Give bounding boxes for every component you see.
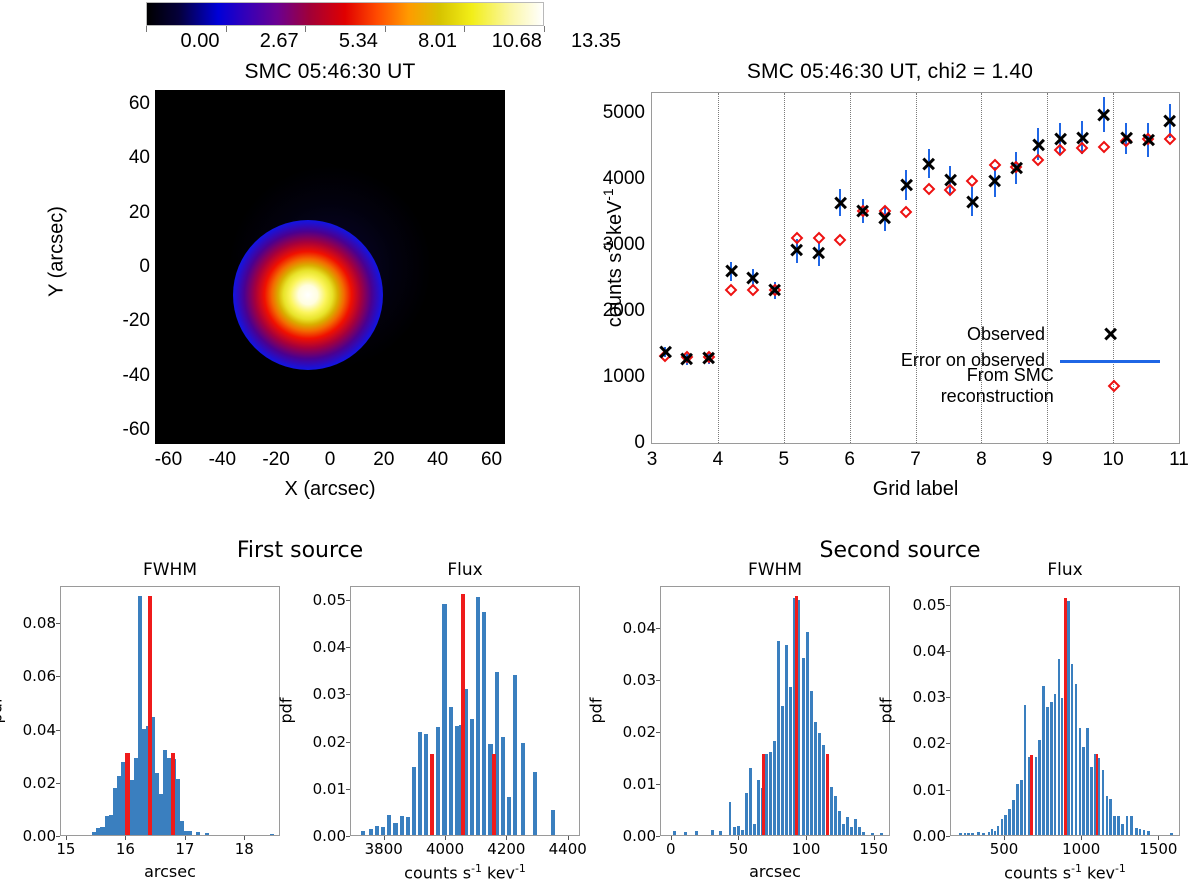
histogram-bar [1016,784,1019,835]
histogram-y-tickmark [946,697,950,698]
histogram-bar [1046,707,1049,835]
histogram-bar [1147,831,1150,835]
histogram-bar [964,833,967,835]
histogram-bar [1143,830,1146,835]
histogram-y-tickmark [656,680,660,681]
histogram-bar [798,600,801,835]
spectrum-observed-marker [921,157,936,172]
histogram-y-tick-label: 0.04 [23,721,56,739]
spectrum-x-tick-label: 6 [844,449,855,471]
histogram-y-tickmark [656,732,660,733]
histogram-bar [375,826,379,835]
histogram-bar [982,833,985,835]
histogram-bar [418,732,422,835]
image-x-tick-label: -20 [262,449,289,471]
histogram-y-tick-label: 0.08 [23,614,56,632]
histogram-bar [1035,757,1038,835]
spectrum-observed-marker [1119,130,1134,145]
histogram-y-tick-label: 0.04 [623,619,656,637]
spectrum-observed-marker [1031,137,1046,152]
histogram-bar [270,834,274,835]
histogram-bar [369,829,373,835]
image-x-tick-label: 60 [481,449,502,471]
image-x-tick-label: -60 [155,449,182,471]
histogram-bar [188,831,192,835]
histogram-y-tick-label: 0.02 [313,733,346,751]
image-x-tick-label: -40 [209,449,236,471]
histogram-bar [442,604,446,835]
histogram-y-ticks-first-fwhm: 0.000.020.040.060.08 [0,586,56,836]
spectrum-observed-marker [1162,114,1177,129]
spectrum-observed-marker [965,194,980,209]
histogram-bar [842,824,845,835]
colorbar-tick-label: 0.00 [181,30,220,53]
histogram-title-second-fwhm: FWHM [660,560,890,580]
histogram-bar [777,641,780,835]
histogram-y-label-second-flux: pdf [877,671,896,751]
histogram-y-tickmark [656,628,660,629]
legend-row-observed: Observed [865,321,1165,347]
histogram-bar [96,828,100,835]
histogram-x-ticks-first-flux: 3800400042004400 [350,840,580,862]
histogram-bar [997,826,1000,835]
histogram-bar [1135,828,1138,835]
spectrum-x-tick-label: 10 [1103,449,1124,471]
histogram-x-tick-label: 50 [729,840,748,858]
spectrum-observed-marker [789,243,804,258]
histogram-plot-second-flux [950,586,1180,836]
histogram-bar [513,675,517,835]
histogram-bar [769,752,772,835]
spectrum-reconstruction-marker [966,175,979,188]
histogram-y-label-second-fwhm: pdf [587,671,606,751]
colorbar-tick-label: 2.67 [260,30,299,53]
histogram-bar [1098,758,1101,835]
histogram-marker-bar [148,596,152,835]
histogram-bar [470,719,474,835]
spectrum-observed-marker [724,264,739,279]
histogram-y-ticks-first-flux: 0.000.010.020.030.040.05 [290,586,346,836]
histogram-bar [862,832,865,835]
histogram-x-ticks-second-flux: 50010001500 [950,840,1180,862]
histogram-marker-bar [171,753,175,835]
histogram-plot-second-fwhm [660,586,890,836]
histogram-bar [741,830,744,835]
histogram-x-tick-label: 1000 [1062,840,1100,858]
spectrum-reconstruction-marker [900,205,913,218]
histogram-bar [854,819,857,835]
source-blob [233,220,383,370]
histogram-bar [436,727,440,835]
histogram-plot-first-flux [350,586,580,836]
histogram-bar [406,817,410,835]
histogram-bar [695,831,698,835]
histogram-y-tickmark [346,836,350,837]
image-panel-title: SMC 05:46:30 UT [155,60,505,84]
histogram-bar [749,768,752,835]
histogram-y-ticks-second-fwhm: 0.000.010.020.030.04 [600,586,656,836]
image-x-tick-label: 20 [373,449,394,471]
histogram-y-tick-label: 0.05 [313,591,346,609]
histogram-marker-bar [430,754,434,835]
histogram-bar [455,726,459,835]
histogram-bar [834,796,837,835]
histogram-bar [753,824,756,835]
histogram-y-tick-label: 0.01 [623,775,656,793]
histogram-title-first-fwhm: FWHM [60,560,280,580]
histogram-bar [673,831,676,835]
legend-row-reconstruction: From SMC reconstruction [865,373,1165,399]
histogram-bar [1075,684,1078,835]
histogram-bar [789,687,792,835]
histogram-bar [745,793,748,835]
histogram-y-label-first-fwhm: pdf [0,671,6,751]
histogram-bar [810,691,813,835]
histogram-bar [424,734,428,835]
histogram-plot-first-fwhm [60,586,280,836]
spectrum-gridline [718,93,719,443]
histogram-y-tickmark [56,783,60,784]
legend-label-reconstruction: From SMC reconstruction [865,365,1064,407]
histogram-bar [806,632,809,835]
histogram-bar [838,811,841,835]
histogram-y-tick-label: 0.04 [913,642,946,660]
histogram-y-tickmark [346,789,350,790]
histogram-x-tick-label: 150 [859,840,888,858]
histogram-bar [482,612,486,835]
image-panel-x-ticks: -60-40-200204060 [155,449,505,475]
spectrum-reconstruction-marker [1098,141,1111,154]
histogram-y-tickmark [656,784,660,785]
histogram-y-tick-label: 0.03 [913,688,946,706]
histogram-bar [977,832,980,835]
histogram-bar [1121,824,1124,835]
legend-symbol-diamond [1064,376,1165,396]
image-y-tick-label: -40 [123,365,150,387]
spectrum-observed-marker [987,174,1002,189]
histogram-y-tickmark [946,790,950,791]
histogram-marker-bar [492,754,496,835]
histogram-bar [822,745,825,835]
spectrum-observed-marker [855,203,870,218]
histogram-bar [196,832,200,835]
histogram-bar [1050,702,1053,835]
spectrum-observed-marker [1053,132,1068,147]
spectrum-y-tick-label: 5000 [603,102,645,124]
histogram-y-tick-label: 0.02 [913,734,946,752]
spectrum-reconstruction-marker [725,283,738,296]
histogram-bar [773,741,776,835]
histogram-bar [719,831,722,835]
histogram-bar [830,787,833,835]
histogram-y-tick-label: 0.03 [623,671,656,689]
colorbar-tick-label: 8.01 [418,30,457,53]
histogram-bar [850,827,853,835]
histogram-bar [818,733,821,835]
histogram-x-tick-label: 0 [666,840,676,858]
histogram-bar [393,823,397,835]
histogram-bar [412,767,416,835]
histogram-marker-bar [795,596,798,835]
histogram-y-tickmark [56,836,60,837]
histogram-bar [361,831,365,835]
spectrum-observed-marker [1141,132,1156,147]
histogram-y-tick-label: 0.00 [623,827,656,845]
legend-label-observed: Observed [967,324,1055,345]
spectrum-observed-marker [745,270,760,285]
histogram-bar [733,827,736,835]
spectrum-observed-marker [1096,108,1111,123]
spectrum-observed-marker [1075,130,1090,145]
histogram-bar [387,815,391,835]
spectrum-legend: Observed Error on observed From SMC reco… [865,321,1165,399]
histogram-bar [814,722,817,835]
histogram-x-ticks-second-fwhm: 050100150 [660,840,890,862]
histogram-y-tickmark [946,605,950,606]
spectrum-observed-marker [1009,161,1024,176]
image-y-tick-label: 60 [129,93,150,115]
histogram-x-tick-label: 100 [792,840,821,858]
histogram-y-tickmark [346,600,350,601]
histogram-y-tick-label: 0.02 [23,774,56,792]
histogram-x-tick-label: 4200 [487,840,525,858]
histogram-bar [1067,601,1070,835]
colorbar-tick-label: 10.68 [492,30,542,53]
histogram-bar [785,645,788,835]
spectrum-x-tick-label: 4 [713,449,724,471]
histogram-bar [971,833,974,835]
image-panel-plot [155,90,505,444]
image-panel-y-label: Y (arcsec) [46,177,69,327]
histogram-bar [1102,770,1105,835]
spectrum-x-tick-label: 8 [976,449,987,471]
histogram-bar [1130,816,1133,835]
histogram-bar [1079,728,1082,835]
histogram-bar [1042,686,1045,835]
histogram-bar [757,780,760,835]
legend-symbol-x [1055,324,1165,344]
histogram-y-tick-label: 0.04 [313,638,346,656]
histogram-x-tick-label: 500 [990,840,1019,858]
histogram-bar [684,832,687,835]
histogram-bar [765,754,768,835]
spectrum-observed-marker [811,245,826,260]
spectrum-reconstruction-marker [812,232,825,245]
histogram-bar [507,797,511,835]
spectrum-y-label: counts s-1 keV-1 [601,138,627,378]
histogram-x-tick-label: 3800 [365,840,403,858]
spectrum-observed-marker [658,344,673,359]
histogram-x-ticks-first-fwhm: 15161718 [60,840,280,862]
histogram-y-tick-label: 0.01 [313,780,346,798]
histogram-y-tickmark [346,742,350,743]
histogram-bar [551,810,555,835]
histogram-marker-bar [461,594,465,835]
histogram-bar [1004,815,1007,835]
image-x-tick-label: 40 [427,449,448,471]
image-y-tick-label: 0 [139,256,150,278]
spectrum-reconstruction-marker [834,233,847,246]
image-panel-x-label: X (arcsec) [155,478,505,501]
colorbar [146,2,544,26]
histogram-bar [205,833,209,835]
histogram-bar [1109,799,1112,835]
histogram-bar [967,833,970,835]
histogram-bar [521,743,525,835]
histogram-bar [1071,664,1074,835]
histogram-y-ticks-second-flux: 0.000.010.020.030.040.05 [890,586,946,836]
histogram-bar [858,827,861,835]
spectrum-reconstruction-marker [922,183,935,196]
spectrum-observed-marker [899,178,914,193]
histogram-bar [1082,747,1085,835]
histogram-x-tick-label: 4400 [549,840,587,858]
spectrum-x-tick-label: 3 [647,449,658,471]
histogram-bar [781,706,784,835]
histogram-bar [400,816,404,835]
histogram-y-tickmark [346,647,350,648]
histogram-bar [1117,816,1120,835]
spectrum-reconstruction-marker [988,159,1001,172]
spectrum-observed-marker [679,352,694,367]
histogram-marker-bar [762,754,765,835]
spectrum-x-tick-label: 5 [778,449,789,471]
histogram-y-tickmark [56,730,60,731]
histogram-title-first-flux: Flux [350,560,580,580]
histogram-bar [1020,780,1023,835]
histogram-x-tick-label: 17 [175,840,194,858]
spectrum-observed-marker [877,211,892,226]
histogram-y-tick-label: 0.06 [23,667,56,685]
histogram-bar [1001,819,1004,835]
spectrum-observed-marker [767,283,782,298]
histogram-bar [533,772,537,835]
histogram-x-tick-label: 15 [56,840,75,858]
histogram-bar [1012,800,1015,835]
histogram-bar [846,817,849,835]
spectrum-observed-marker [943,173,958,188]
histogram-y-tickmark [56,623,60,624]
histogram-bar [729,802,732,835]
histogram-bar [711,830,714,835]
histogram-x-label-first-fwhm: arcsec [60,862,280,881]
colorbar-tick-labels: 0.002.675.348.0110.6813.35 [100,30,590,56]
spectrum-observed-marker [701,350,716,365]
histogram-bar [476,597,480,835]
histogram-bar [1113,816,1116,835]
histogram-marker-bar [125,753,129,835]
spectrum-x-tick-label: 7 [910,449,921,471]
histogram-x-label-second-flux: counts s-1 kev-1 [950,862,1180,882]
histogram-bar [959,833,962,835]
histogram-x-tick-label: 4000 [426,840,464,858]
histogram-bar [1170,833,1173,835]
image-y-tick-label: -20 [123,310,150,332]
histogram-bar [737,826,740,835]
histogram-y-tickmark [946,651,950,652]
histogram-title-second-flux: Flux [950,560,1180,580]
spectrum-gridline [784,93,785,443]
spectrum-gridline [850,93,851,443]
spectrum-y-tick-label: 0 [634,432,645,454]
spectrum-observed-marker [833,195,848,210]
image-panel-y-ticks: 6040200-20-40-60 [95,90,150,444]
histogram-bar [1038,740,1041,835]
legend-symbol-line [1055,350,1165,370]
histogram-bar [1106,796,1109,835]
histogram-marker-bar [1096,754,1099,835]
histogram-y-tick-label: 0.05 [913,596,946,614]
histogram-y-tick-label: 0.00 [913,827,946,845]
spectrum-x-tick-label: 9 [1042,449,1053,471]
spectrum-reconstruction-marker [746,284,759,297]
histogram-y-tick-label: 0.03 [313,685,346,703]
histogram-y-tick-label: 0.00 [313,827,346,845]
histogram-y-tickmark [656,836,660,837]
histogram-marker-bar [826,754,829,835]
colorbar-gradient [146,2,544,26]
histogram-y-tick-label: 0.02 [623,723,656,741]
histogram-bar [1054,694,1057,835]
histogram-bar [1086,728,1089,835]
image-y-tick-label: 20 [129,202,150,224]
histogram-bar [381,827,385,835]
histogram-x-tick-label: 16 [116,840,135,858]
histogram-x-tick-label: 1500 [1139,840,1177,858]
histogram-bar [1139,829,1142,835]
histogram-x-label-first-flux: counts s-1 kev-1 [350,862,580,882]
histogram-bar [1008,809,1011,835]
image-y-tick-label: 40 [129,147,150,169]
histogram-bar [802,658,805,835]
histogram-y-tickmark [946,836,950,837]
histogram-bar [871,833,874,835]
spectrum-x-ticks: 34567891011 [651,449,1180,475]
image-x-tick-label: 0 [325,449,336,471]
spectrum-x-tick-label: 11 [1169,449,1189,471]
histogram-y-tickmark [946,743,950,744]
histogram-x-tick-label: 18 [235,840,254,858]
histogram-y-label-first-flux: pdf [277,671,296,751]
histogram-bar [1090,767,1093,835]
histogram-bar [880,833,883,835]
histogram-bar [1126,816,1129,835]
histogram-y-tickmark [346,694,350,695]
spectrum-reconstruction-marker [1163,132,1176,145]
spectrum-panel-title: SMC 05:46:30 UT, chi2 = 1.40 [600,60,1180,84]
image-y-tick-label: -60 [123,419,150,441]
colorbar-tick-label: 13.35 [571,30,621,53]
histogram-bar [1024,705,1027,835]
histogram-y-tick-label: 0.01 [913,781,946,799]
histogram-x-label-second-fwhm: arcsec [660,862,890,881]
spectrum-panel-plot: Observed Error on observed From SMC reco… [651,92,1180,444]
histogram-y-tick-label: 0.00 [23,827,56,845]
histogram-bar [449,707,453,835]
colorbar-tick-label: 5.34 [339,30,378,53]
spectrum-x-label: Grid label [651,478,1180,501]
histogram-y-tickmark [56,676,60,677]
histogram-marker-bar [1064,598,1067,836]
histogram-bar [501,737,505,835]
histogram-marker-bar [1030,755,1033,835]
spectrum-reconstruction-marker [1032,154,1045,167]
